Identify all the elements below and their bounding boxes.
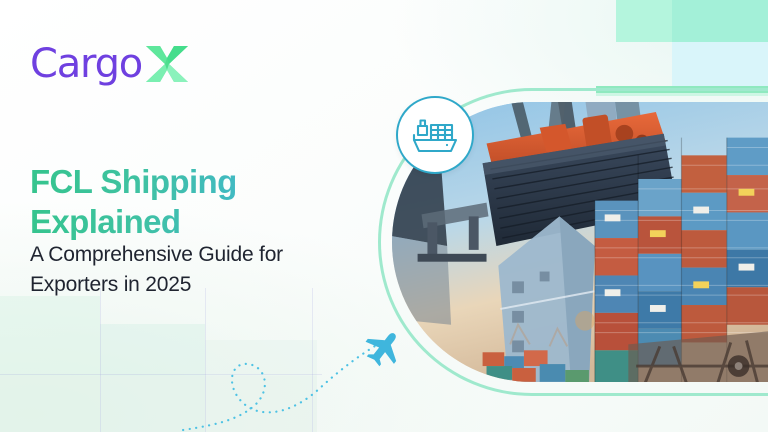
- container-ship-icon: [410, 113, 460, 157]
- container-ship-badge: [396, 96, 474, 174]
- decorative-mint-block: [616, 0, 672, 42]
- dotted-trail: [180, 342, 382, 432]
- airplane-icon: [359, 323, 409, 373]
- decorative-mint-block-3: [720, 0, 768, 42]
- hero-banner: Cargo FCL Shipping Explained A Comprehen…: [0, 0, 768, 432]
- decorative-flight-path: [180, 310, 430, 432]
- flight-path-svg: [180, 310, 430, 432]
- decorative-mint-block-2: [672, 0, 720, 42]
- page-title: FCL Shipping Explained: [30, 162, 370, 243]
- decorative-cyan-block: [672, 42, 768, 86]
- headline-line-1: FCL Shipping: [30, 163, 237, 200]
- subtitle-line-1: A Comprehensive Guide for: [30, 243, 283, 266]
- headline-line-2: Explained: [30, 203, 180, 240]
- page-subtitle: A Comprehensive Guide for Exporters in 2…: [30, 240, 370, 300]
- subtitle-line-2: Exporters in 2025: [30, 273, 191, 296]
- logo-x-mark: [144, 43, 190, 85]
- cargox-logo[interactable]: Cargo: [30, 40, 190, 88]
- logo-wordmark: Cargo: [30, 44, 142, 84]
